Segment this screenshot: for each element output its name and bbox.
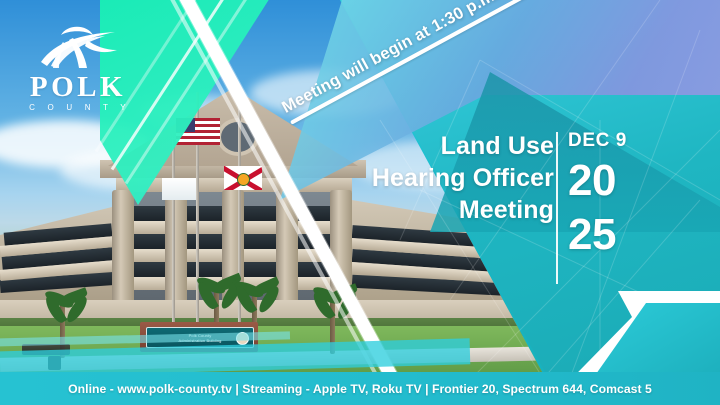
flagpole: [172, 140, 175, 328]
logo-subtitle: C O U N T Y: [22, 103, 134, 112]
meeting-date: DEC 9 20 25: [568, 130, 688, 260]
title-date-divider: [556, 132, 558, 284]
meeting-year-bottom: 25: [568, 210, 688, 260]
meeting-title-line-2: Hearing Officer: [234, 162, 554, 194]
polk-county-sun-palm-logo-icon: [35, 22, 121, 68]
logo-wordmark: POLK: [22, 72, 134, 102]
meeting-title-line-1: Land Use: [234, 130, 554, 162]
white-flag: [162, 178, 196, 200]
meeting-title-slide: Polk County Administration Building: [0, 0, 720, 405]
meeting-month-day: DEC 9: [568, 130, 688, 152]
meeting-year-top: 20: [568, 156, 688, 206]
column: [112, 190, 134, 308]
column: [165, 190, 187, 308]
meeting-title-line-3: Meeting: [234, 194, 554, 226]
polk-county-logo: POLK C O U N T Y: [22, 22, 134, 112]
broadcast-info-text: Online - www.polk-county.tv | Streaming …: [68, 382, 652, 396]
broadcast-info-bar: Online - www.polk-county.tv | Streaming …: [0, 372, 720, 405]
meeting-title: Land Use Hearing Officer Meeting: [234, 130, 554, 226]
